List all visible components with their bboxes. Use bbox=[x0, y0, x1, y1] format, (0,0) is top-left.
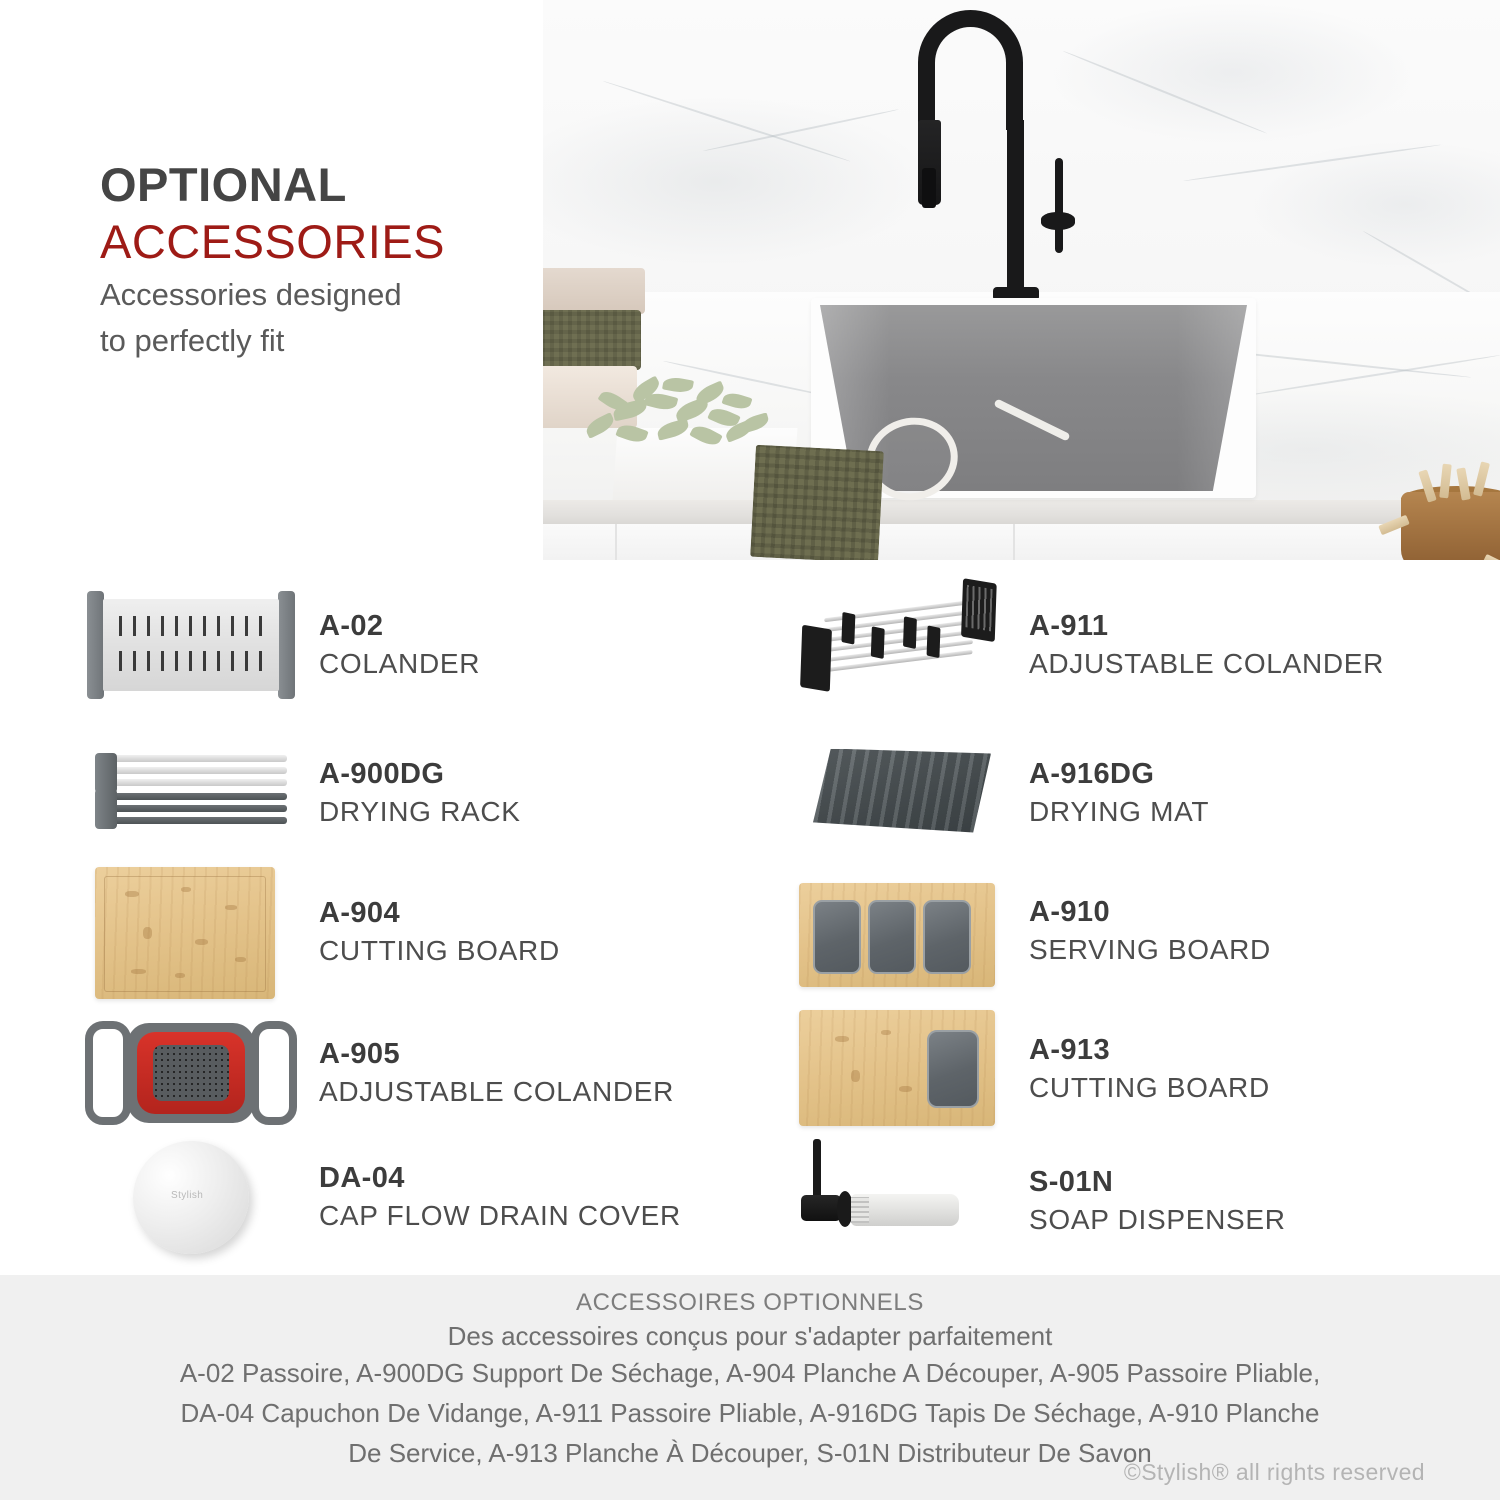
faucet-column bbox=[1007, 120, 1024, 295]
product-item-a-02[interactable]: A-02 COLANDER bbox=[85, 580, 480, 710]
product-name: ADJUSTABLE COLANDER bbox=[1029, 647, 1384, 681]
product-name: DRYING RACK bbox=[319, 795, 521, 829]
product-image-a-900dg bbox=[85, 731, 297, 856]
heading-sub-line-2: to perfectly fit bbox=[100, 321, 530, 361]
plant bbox=[563, 290, 803, 440]
product-sku: A-913 bbox=[1029, 1034, 1270, 1067]
faucet-handle bbox=[1055, 158, 1063, 253]
heading-line-accessories: ACCESSORIES bbox=[100, 215, 530, 269]
hero-kitchen-photo bbox=[543, 0, 1500, 560]
product-image-da-04: Stylish bbox=[85, 1135, 297, 1260]
product-item-da-04[interactable]: Stylish DA-04 CAP FLOW DRAIN COVER bbox=[85, 1132, 681, 1262]
product-image-a-905 bbox=[85, 1011, 297, 1136]
product-name: SOAP DISPENSER bbox=[1029, 1203, 1286, 1237]
product-item-a-910[interactable]: A-910 SERVING BOARD bbox=[795, 866, 1271, 996]
faucet-sprayhead-detail bbox=[922, 168, 936, 208]
product-sku: A-02 bbox=[319, 610, 480, 643]
footer-band: ACCESSOIRES OPTIONNELS Des accessoires c… bbox=[0, 1275, 1500, 1500]
product-sku: DA-04 bbox=[319, 1162, 681, 1195]
heading-line-optional: OPTIONAL bbox=[100, 160, 530, 209]
product-item-a-911[interactable]: A-911 ADJUSTABLE COLANDER bbox=[795, 580, 1384, 710]
product-sku: S-01N bbox=[1029, 1166, 1286, 1199]
product-image-a-910 bbox=[795, 869, 1007, 994]
product-item-s-01n[interactable]: S-01N SOAP DISPENSER bbox=[795, 1136, 1286, 1266]
footer-title: ACCESSOIRES OPTIONNELS bbox=[0, 1275, 1500, 1317]
product-sku: A-916DG bbox=[1029, 758, 1209, 791]
product-item-a-905[interactable]: A-905 ADJUSTABLE COLANDER bbox=[85, 1008, 674, 1138]
product-item-a-916dg[interactable]: A-916DG DRYING MAT bbox=[795, 728, 1209, 858]
product-name: SERVING BOARD bbox=[1029, 933, 1271, 967]
product-name: COLANDER bbox=[319, 647, 480, 681]
product-image-a-913 bbox=[795, 1000, 1007, 1138]
product-image-a-904 bbox=[85, 861, 297, 1003]
product-sku: A-900DG bbox=[319, 758, 521, 791]
product-image-s-01n bbox=[795, 1139, 1007, 1264]
wooden-bowl bbox=[1401, 492, 1500, 560]
draped-towel bbox=[750, 445, 884, 560]
product-item-a-900dg[interactable]: A-900DG DRYING RACK bbox=[85, 728, 521, 858]
product-name: CUTTING BOARD bbox=[1029, 1071, 1270, 1105]
product-image-a-916dg bbox=[795, 731, 1007, 856]
faucet-arc bbox=[918, 10, 1023, 130]
cabinet-front bbox=[543, 524, 1500, 560]
product-sku: A-904 bbox=[319, 897, 560, 930]
product-sku: A-905 bbox=[319, 1038, 674, 1071]
product-name: CUTTING BOARD bbox=[319, 934, 560, 968]
stylish-logo: Stylish bbox=[171, 1190, 203, 1201]
faucet-handle-base bbox=[1041, 212, 1075, 230]
product-name: DRYING MAT bbox=[1029, 795, 1209, 829]
footer-list-line-1: A-02 Passoire, A-900DG Support De Séchag… bbox=[0, 1356, 1500, 1392]
product-name: CAP FLOW DRAIN COVER bbox=[319, 1199, 681, 1233]
footer-subtitle: Des accessoires conçus pour s'adapter pa… bbox=[0, 1321, 1500, 1352]
product-sku: A-910 bbox=[1029, 896, 1271, 929]
product-image-a-02 bbox=[85, 583, 297, 708]
counter-edge bbox=[543, 500, 1500, 526]
product-sku: A-911 bbox=[1029, 610, 1384, 643]
product-name: ADJUSTABLE COLANDER bbox=[319, 1075, 674, 1109]
heading-sub-line-1: Accessories designed bbox=[100, 275, 530, 315]
page-heading: OPTIONAL ACCESSORIES Accessories designe… bbox=[100, 160, 530, 361]
copyright-text: ©Stylish® all rights reserved bbox=[1124, 1459, 1425, 1486]
product-item-a-913[interactable]: A-913 CUTTING BOARD bbox=[795, 998, 1270, 1140]
footer-list-line-2: DA-04 Capuchon De Vidange, A-911 Passoir… bbox=[0, 1396, 1500, 1432]
product-item-a-904[interactable]: A-904 CUTTING BOARD bbox=[85, 858, 560, 1006]
product-image-a-911 bbox=[795, 583, 1007, 708]
